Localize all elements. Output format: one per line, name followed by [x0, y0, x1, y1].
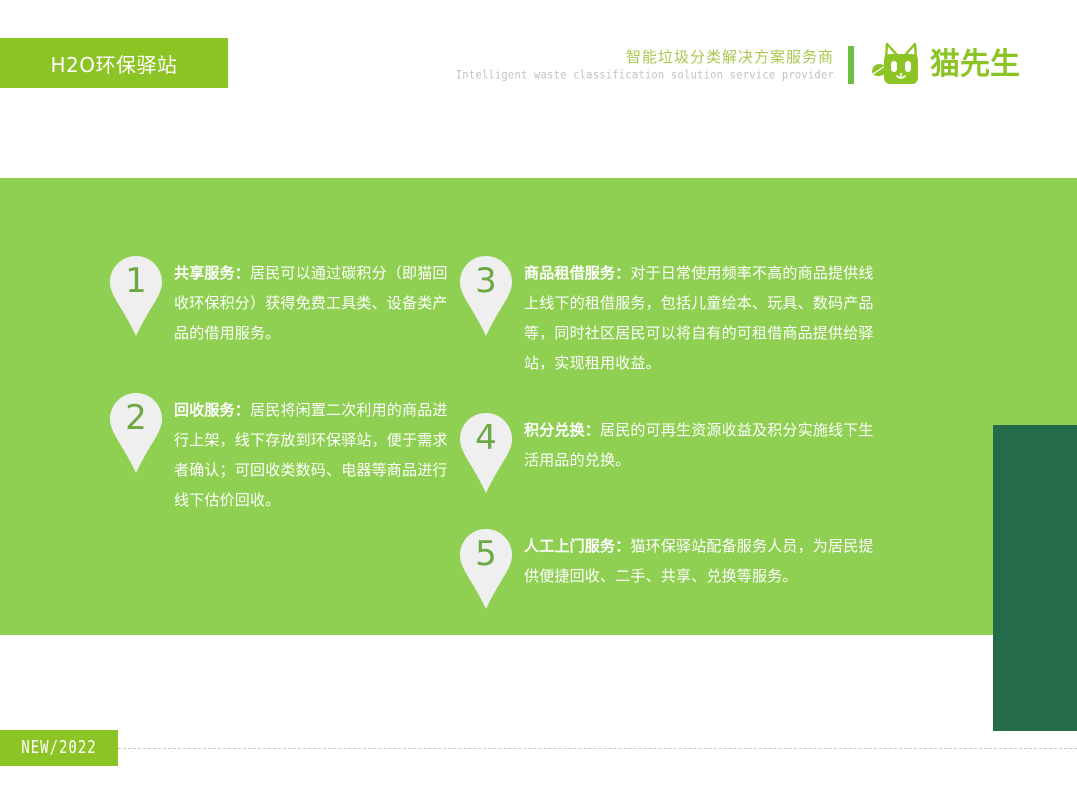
brand-slogans: 智能垃圾分类解决方案服务商 Intelligent waste classifi… — [456, 48, 848, 83]
footer-badge-label: NEW/2022 — [21, 738, 96, 758]
item-text: 共享服务：居民可以通过碳积分（即猫回收环保积分）获得免费工具类、设备类产品的借用… — [164, 248, 458, 349]
slogan-english: Intelligent waste classification solutio… — [456, 67, 834, 84]
item-title: 回收服务： — [174, 402, 250, 419]
item-number: 4 — [458, 421, 514, 455]
item-title: 共享服务： — [174, 265, 250, 282]
footer-divider — [118, 748, 1077, 749]
accent-rectangle — [993, 425, 1077, 731]
list-item: 2 回收服务：居民将闲置二次利用的商品进行上架，线下存放到环保驿站，便于需求者确… — [108, 385, 458, 516]
footer-badge: NEW/2022 — [0, 730, 118, 766]
map-pin-icon: 4 — [458, 411, 514, 495]
brand-area: 智能垃圾分类解决方案服务商 Intelligent waste classifi… — [456, 40, 1020, 90]
item-number: 1 — [108, 264, 164, 298]
brand-divider — [848, 46, 854, 84]
map-pin-icon: 3 — [458, 254, 514, 338]
item-number: 5 — [458, 537, 514, 571]
list-item: 5 人工上门服务：猫环保驿站配备服务人员，为居民提供便捷回收、二手、共享、兑换等… — [458, 521, 888, 611]
item-text: 积分兑换：居民的可再生资源收益及积分实施线下生活用品的兑换。 — [514, 405, 888, 476]
item-text: 回收服务：居民将闲置二次利用的商品进行上架，线下存放到环保驿站，便于需求者确认；… — [164, 385, 458, 516]
slogan-chinese: 智能垃圾分类解决方案服务商 — [456, 48, 834, 68]
slide-header: H2O环保驿站 智能垃圾分类解决方案服务商 Intelligent waste … — [0, 0, 1077, 120]
item-text: 商品租借服务：对于日常使用频率不高的商品提供线上线下的租借服务，包括儿童绘本、玩… — [514, 248, 888, 379]
cat-face-leaf-logo-icon — [870, 42, 924, 88]
brand-logo: 猫先生 — [870, 42, 1020, 88]
items-column-right: 3 商品租借服务：对于日常使用频率不高的商品提供线上线下的租借服务，包括儿童绘本… — [458, 248, 888, 637]
list-item: 3 商品租借服务：对于日常使用频率不高的商品提供线上线下的租借服务，包括儿童绘本… — [458, 248, 888, 379]
list-item: 1 共享服务：居民可以通过碳积分（即猫回收环保积分）获得免费工具类、设备类产品的… — [108, 248, 458, 349]
items-column-left: 1 共享服务：居民可以通过碳积分（即猫回收环保积分）获得免费工具类、设备类产品的… — [108, 248, 458, 542]
item-title: 积分兑换： — [524, 422, 600, 439]
logo-wordmark: 猫先生 — [930, 50, 1020, 80]
slide-footer: NEW/2022 — [0, 730, 1077, 766]
item-text: 人工上门服务：猫环保驿站配备服务人员，为居民提供便捷回收、二手、共享、兑换等服务… — [514, 521, 888, 592]
item-title: 人工上门服务： — [524, 538, 630, 555]
map-pin-icon: 1 — [108, 254, 164, 338]
list-item: 4 积分兑换：居民的可再生资源收益及积分实施线下生活用品的兑换。 — [458, 405, 888, 495]
map-pin-icon: 2 — [108, 391, 164, 475]
page-title: H2O环保驿站 — [50, 49, 177, 78]
page-title-block: H2O环保驿站 — [0, 38, 228, 88]
item-title: 商品租借服务： — [524, 265, 630, 282]
item-number: 2 — [108, 401, 164, 435]
item-number: 3 — [458, 264, 514, 298]
map-pin-icon: 5 — [458, 527, 514, 611]
